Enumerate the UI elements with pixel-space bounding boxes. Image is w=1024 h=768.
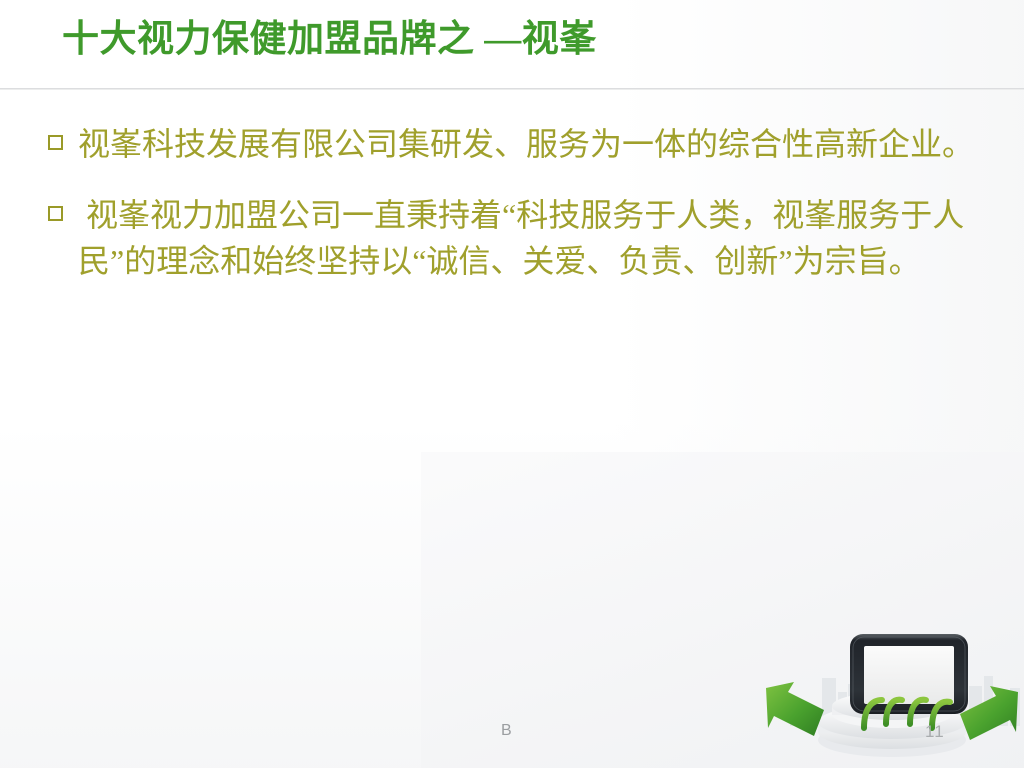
title-block: 十大视力保健加盟品牌之 —视峯 (0, 0, 1024, 89)
page-number: 11 (925, 722, 945, 742)
list-item-text: 视峯科技发展有限公司集研发、服务为一体的综合性高新企业。 (78, 122, 978, 167)
footer-marker-label: B (501, 722, 512, 740)
list-item: 视峯视力加盟公司一直秉持着“科技服务于人类，视峯服务于人民”的理念和始终坚持以“… (48, 193, 978, 284)
list-item: 视峯科技发展有限公司集研发、服务为一体的综合性高新企业。 (48, 122, 978, 167)
title-divider (0, 88, 1024, 89)
content-plate-panel (421, 452, 1024, 768)
tablet-on-pedestal-decoration-icon (760, 612, 1024, 768)
list-item-text: 视峯视力加盟公司一直秉持着“科技服务于人类，视峯服务于人民”的理念和始终坚持以“… (78, 193, 978, 284)
body-content: 视峯科技发展有限公司集研发、服务为一体的综合性高新企业。 视峯视力加盟公司一直秉… (48, 122, 978, 310)
slide-canvas: 十大视力保健加盟品牌之 —视峯 视峯科技发展有限公司集研发、服务为一体的综合性高… (0, 0, 1024, 768)
hollow-square-bullet-icon (48, 135, 63, 150)
background-gradient (0, 0, 1024, 768)
page-title: 十大视力保健加盟品牌之 —视峯 (62, 17, 597, 63)
hollow-square-bullet-icon (48, 206, 63, 221)
